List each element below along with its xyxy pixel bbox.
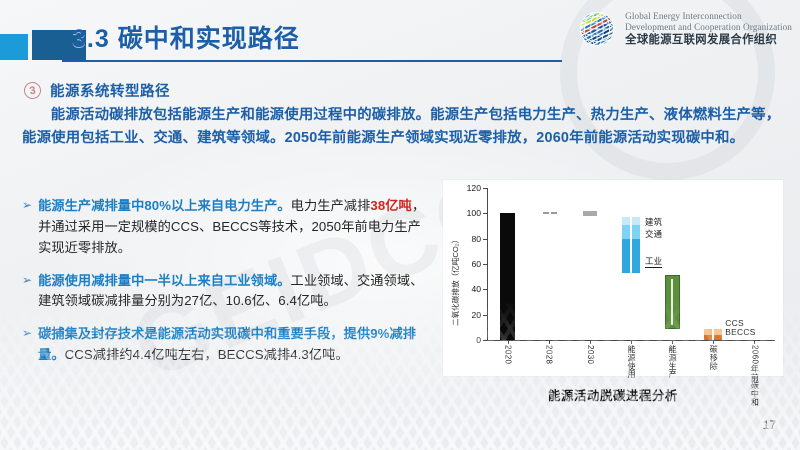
chart-x-tick-label: 能源使用 (627, 345, 635, 379)
section-number-badge: 3 (23, 81, 42, 100)
segment-工业 (622, 239, 630, 273)
chart-x-tick-mark (508, 340, 509, 344)
segment-BECCS (714, 335, 722, 340)
slide-canvas: GEIDCO 3.3 碳中和实现路径 (0, 0, 800, 450)
chart-y-tick-label: 60 (457, 260, 481, 269)
chart-x-tick-mark (754, 340, 755, 344)
bullet-highlight: 38亿吨 (370, 198, 411, 213)
list-item: ➢ 碳捕集及封存技术是能源活动实现碳中和重要手段，提供9%减排量。CCS减排约4… (22, 324, 434, 366)
header-underline (62, 60, 562, 62)
segment-建筑 (632, 217, 640, 225)
segment-工业 (632, 239, 640, 273)
chart-y-tick-label: 0 (457, 336, 481, 345)
bullet-arrow-icon: ➢ (22, 271, 32, 313)
logo-cn-line: 全球能源互联网发展合作组织 (625, 34, 792, 47)
chart-y-tick-label: 120 (457, 184, 481, 193)
chart-y-tick-mark (483, 264, 487, 265)
globe-icon (576, 8, 618, 50)
chart-x-tick-mark (549, 340, 550, 344)
header-accent-block-light (0, 34, 28, 60)
segment-CCS (714, 329, 722, 335)
marker-dash-2028 (543, 212, 549, 214)
chart-x-tick-mark (672, 340, 673, 344)
logo-text-block: Global Energy Interconnection Developmen… (625, 11, 792, 46)
bullet-part: 能源生产减排量中80%以上来自电力生产。 (38, 198, 291, 213)
chart-y-tick-mark (483, 213, 487, 214)
chart-x-tick-label: 2028 (545, 345, 553, 364)
waterfall-chart: 二氧化碳排放（亿吨CO₂） 020406080100120 2020202820… (443, 180, 783, 376)
org-logo: Global Energy Interconnection Developmen… (576, 8, 792, 50)
section-heading: 3 能源系统转型路径 (24, 80, 170, 101)
chart-y-tick-label: 80 (457, 235, 481, 244)
chart-y-tick-mark (483, 188, 487, 189)
page-number: 17 (763, 418, 776, 432)
chart-x-tick-mark (713, 340, 714, 344)
chart-y-tick-group: 020406080100120 (453, 180, 481, 376)
chart-panel: 二氧化碳排放（亿吨CO₂） 020406080100120 2020202820… (443, 180, 783, 376)
bullet-part: 能源使用减排量中一半以上来自工业领域。 (38, 273, 290, 288)
chart-y-tick-mark (483, 289, 487, 290)
chart-x-tick-label: 碳移除 (709, 345, 717, 370)
list-item: ➢ 能源生产减排量中80%以上来自电力生产。电力生产减排38亿吨，并通过采用一定… (22, 196, 434, 259)
page-title: 3.3 碳中和实现路径 (72, 19, 300, 55)
annotation-gongye: 工业 (645, 255, 662, 268)
chart-x-tick-label: 2020 (504, 345, 512, 364)
marker-block-2030 (583, 211, 597, 216)
chart-caption: 能源活动脱碳进程分析 (443, 386, 783, 404)
segment-建筑 (622, 217, 630, 225)
chart-x-tick-label: 能源生产 (668, 345, 676, 379)
marker-dash-2028 (551, 212, 557, 214)
logo-en-line-2: Development and Cooperation Organization (625, 22, 792, 33)
segment-BECCS (704, 335, 712, 340)
bullet-list: ➢ 能源生产减排量中80%以上来自电力生产。电力生产减排38亿吨，并通过采用一定… (22, 196, 434, 378)
chart-y-tick-mark (483, 239, 487, 240)
chart-y-axis-line (487, 188, 488, 340)
chart-y-tick-label: 40 (457, 285, 481, 294)
list-item: ➢ 能源使用减排量中一半以上来自工业领域。工业领域、交通领域、建筑领域碳减排量分… (22, 271, 434, 313)
chart-y-tick-label: 20 (457, 311, 481, 320)
annotation-beccs: BECCS (725, 327, 755, 337)
bullet-text: 碳捕集及封存技术是能源活动实现碳中和重要手段，提供9%减排量。CCS减排约4.4… (38, 324, 434, 366)
segment-交通 (622, 225, 630, 238)
bullet-text: 能源生产减排量中80%以上来自电力生产。电力生产减排38亿吨，并通过采用一定规模… (38, 196, 434, 259)
slide-header: 3.3 碳中和实现路径 (0, 0, 800, 72)
chart-y-tick-mark (483, 315, 487, 316)
chart-x-tick-mark (631, 340, 632, 344)
section-heading-label: 能源系统转型路径 (50, 80, 170, 101)
bullet-arrow-icon: ➢ (22, 324, 32, 366)
intro-paragraph: 能源活动碳排放包括能源生产和能源使用过程中的碳排放。能源生产包括电力生产、热力生… (22, 104, 784, 151)
chart-x-tick-mark (590, 340, 591, 344)
bullet-text: 能源使用减排量中一半以上来自工业领域。工业领域、交通领域、建筑领域碳减排量分别为… (38, 271, 434, 313)
annotation-jiaotong: 交通 (645, 228, 662, 240)
bullet-part: 电力生产减排 (291, 198, 371, 213)
bar-2020 (500, 213, 515, 340)
segment-CCS (704, 329, 712, 335)
annotation-jianzhu: 建筑 (645, 216, 662, 228)
bar-energy-production (665, 275, 680, 328)
chart-x-tick-label: 2030 (586, 345, 594, 364)
logo-en-line-1: Global Energy Interconnection (625, 11, 792, 22)
bullet-arrow-icon: ➢ (22, 196, 32, 259)
bullet-part: CCS减排约4.4亿吨左右，BECCS减排4.3亿吨。 (65, 347, 349, 362)
chart-y-tick-mark (483, 340, 487, 341)
segment-交通 (632, 225, 640, 238)
chart-y-tick-label: 100 (457, 209, 481, 218)
